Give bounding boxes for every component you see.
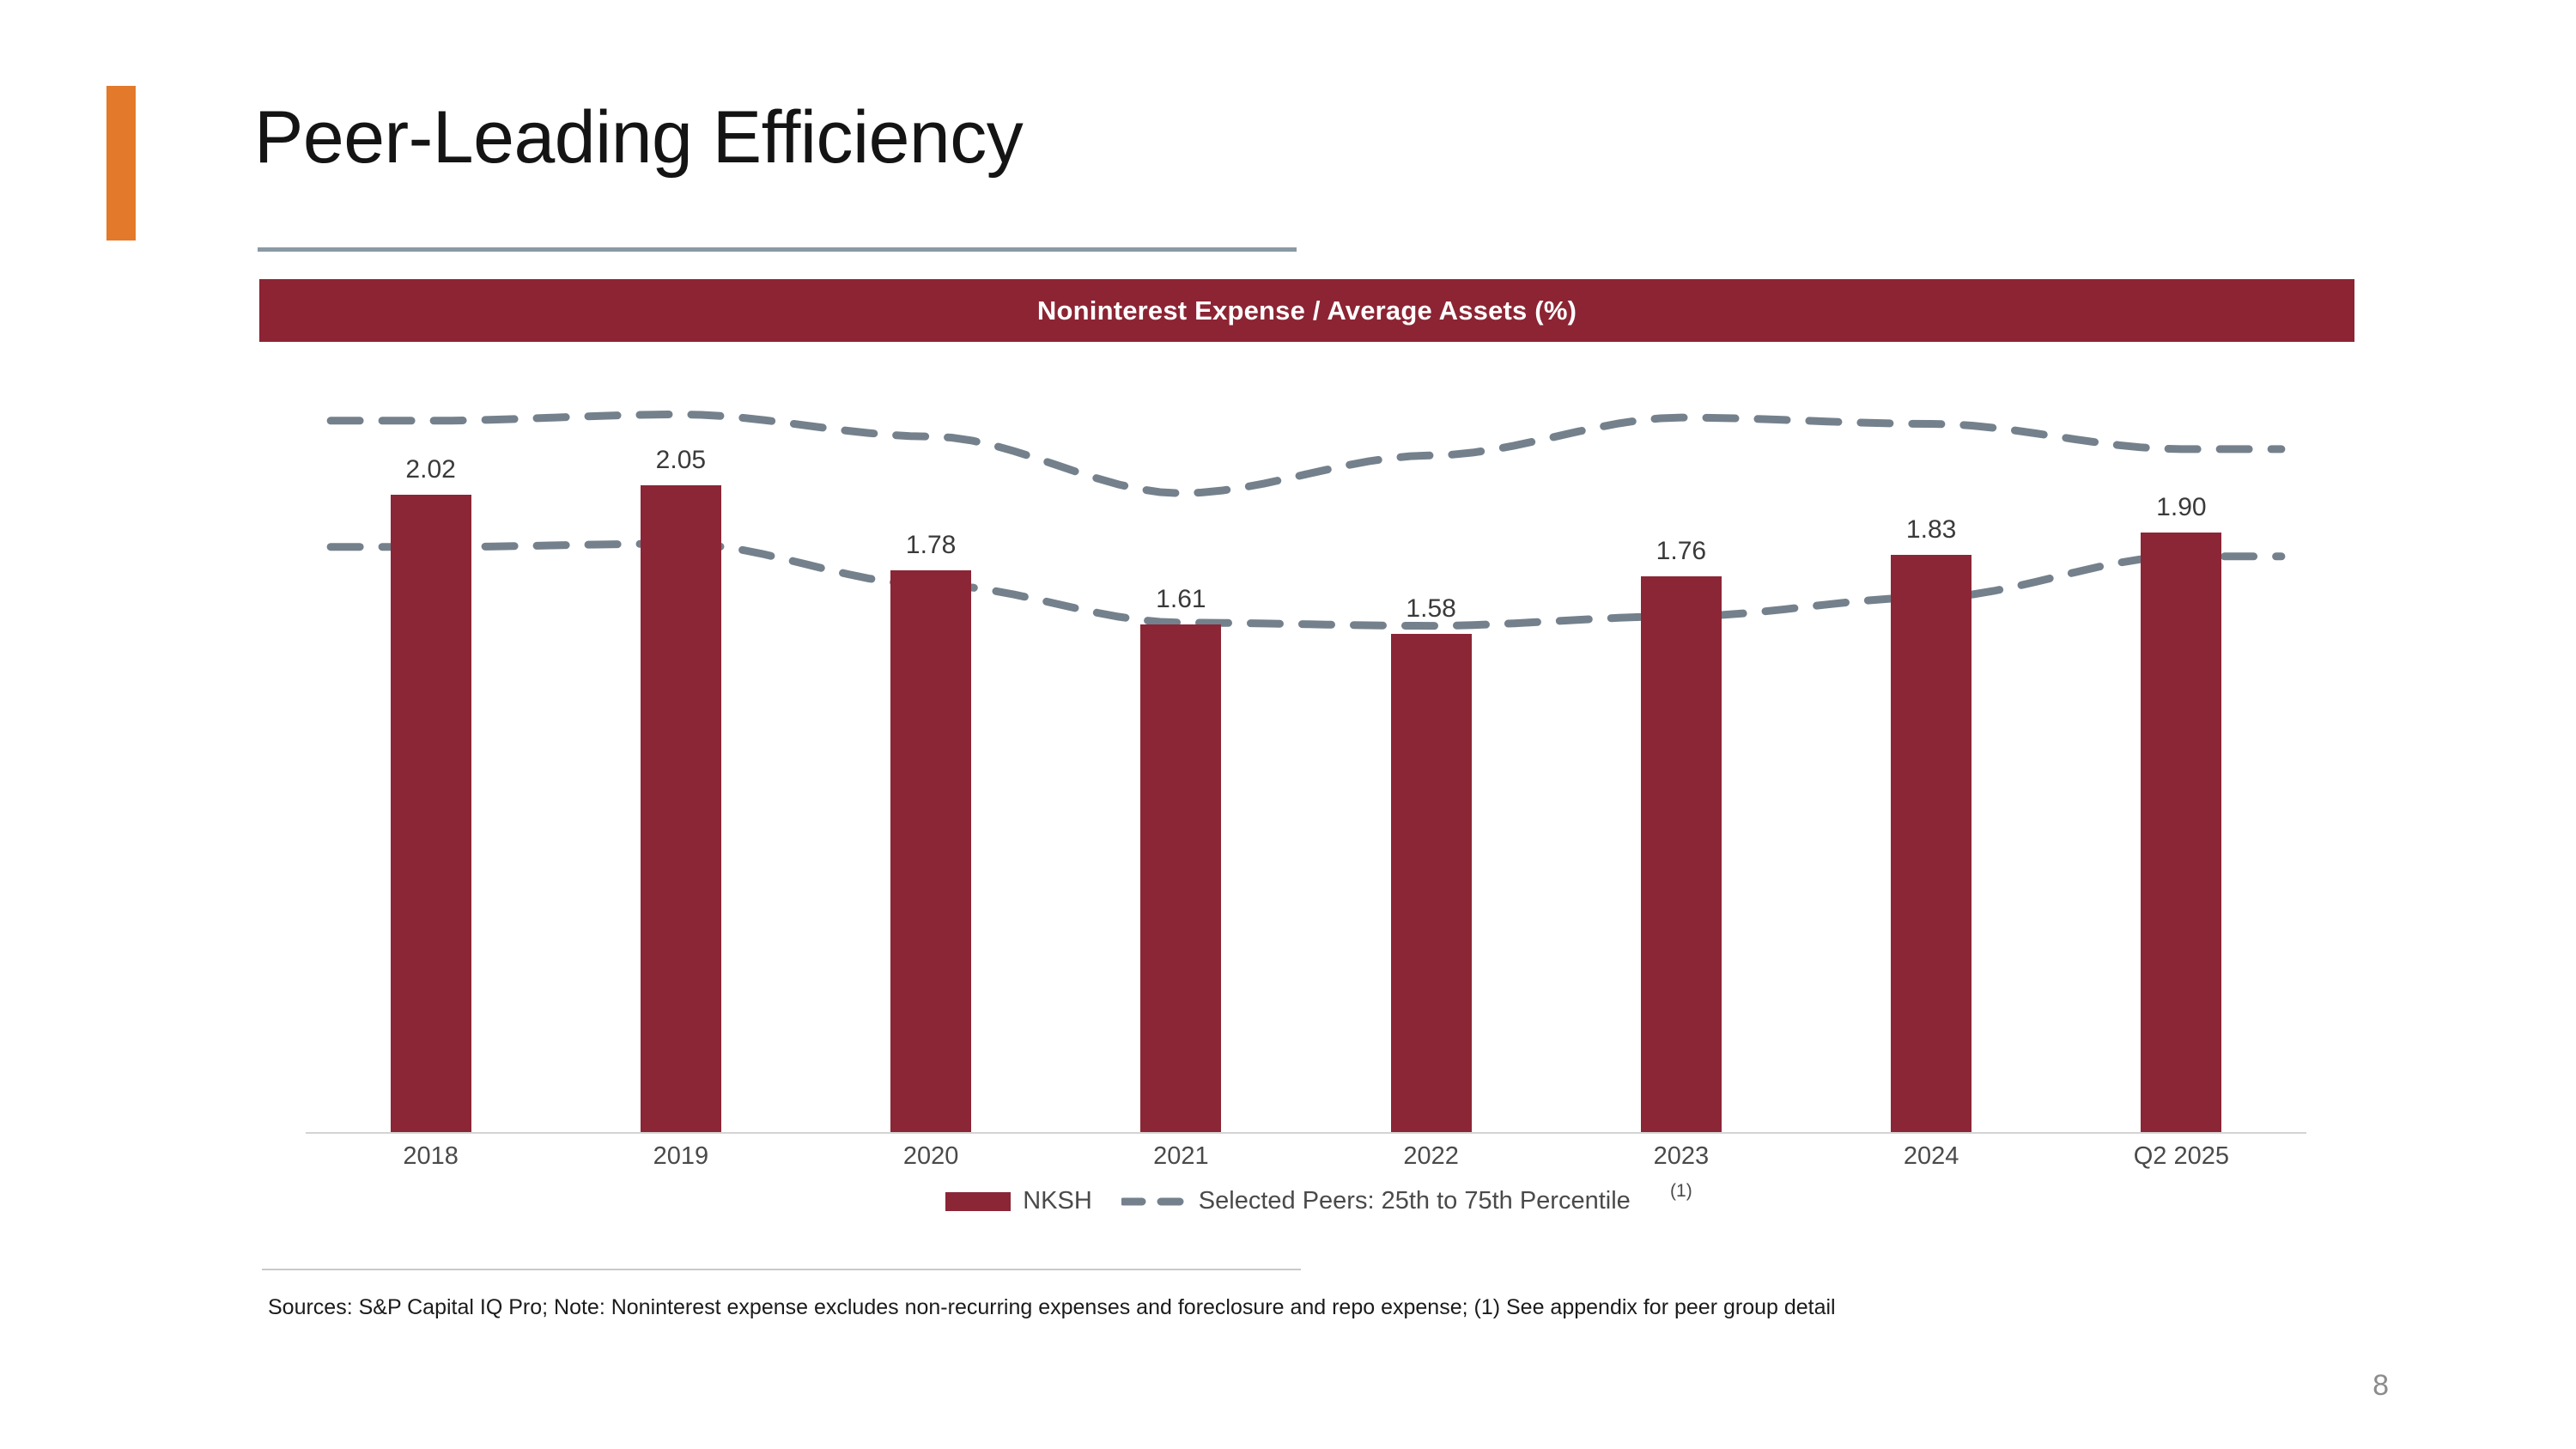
bar-value-label: 1.61 xyxy=(1095,585,1267,614)
chart-banner: Noninterest Expense / Average Assets (%) xyxy=(259,279,2354,342)
x-axis-label-q2-2025: Q2 2025 xyxy=(2078,1142,2284,1171)
bar-2019 xyxy=(641,485,721,1132)
chart-legend: NKSHSelected Peers: 25th to 75th Percent… xyxy=(0,1187,2576,1215)
bar-value-label: 1.90 xyxy=(2095,493,2267,522)
bar-value-label: 1.76 xyxy=(1595,537,1767,566)
footer-divider xyxy=(262,1269,1301,1270)
accent-bar xyxy=(106,86,136,240)
x-axis-label-2024: 2024 xyxy=(1828,1142,2034,1171)
title-divider xyxy=(258,247,1297,252)
legend-bar-swatch-icon xyxy=(945,1192,1011,1211)
x-axis-label-2022: 2022 xyxy=(1328,1142,1534,1171)
page-title: Peer-Leading Efficiency xyxy=(254,93,1023,182)
bar-value-label: 1.58 xyxy=(1346,594,1517,624)
bar-value-label: 2.05 xyxy=(595,446,767,475)
peer-25th-percentile-line xyxy=(331,544,2281,626)
footnote-text: Sources: S&P Capital IQ Pro; Note: Nonin… xyxy=(268,1295,1836,1320)
bar-2018 xyxy=(391,495,471,1132)
bar-2022 xyxy=(1391,634,1472,1132)
x-axis-label-2018: 2018 xyxy=(328,1142,534,1171)
legend-dashed-line-icon xyxy=(1121,1192,1187,1211)
bar-2021 xyxy=(1140,624,1221,1132)
bar-2024 xyxy=(1891,555,1971,1132)
chart-banner-title: Noninterest Expense / Average Assets (%) xyxy=(1037,295,1577,326)
x-axis-label-2020: 2020 xyxy=(828,1142,1034,1171)
bar-q2-2025 xyxy=(2141,533,2221,1132)
chart-plot-area: 2.022.051.781.611.581.761.831.90 xyxy=(259,361,2354,1134)
legend-item-nksh[interactable]: NKSH xyxy=(945,1187,1092,1215)
bar-2020 xyxy=(890,570,971,1132)
x-axis-line xyxy=(306,1132,2306,1134)
bar-value-label: 1.83 xyxy=(1845,515,2017,545)
legend-item-selected-peers[interactable]: Selected Peers: 25th to 75th Percentile xyxy=(1121,1187,1631,1215)
bar-2023 xyxy=(1641,576,1722,1132)
legend-item-label: NKSH xyxy=(1023,1187,1092,1215)
peer-range-lines xyxy=(259,361,2354,1134)
x-axis-label-2021: 2021 xyxy=(1078,1142,1284,1171)
legend-item-label: Selected Peers: 25th to 75th Percentile xyxy=(1199,1187,1631,1215)
bar-value-label: 2.02 xyxy=(345,455,517,484)
slide: Peer-Leading Efficiency Noninterest Expe… xyxy=(0,0,2576,1449)
page-number: 8 xyxy=(2372,1369,2389,1403)
x-axis-label-2023: 2023 xyxy=(1578,1142,1784,1171)
x-axis-label-2019: 2019 xyxy=(578,1142,784,1171)
bar-value-label: 1.78 xyxy=(845,531,1017,560)
